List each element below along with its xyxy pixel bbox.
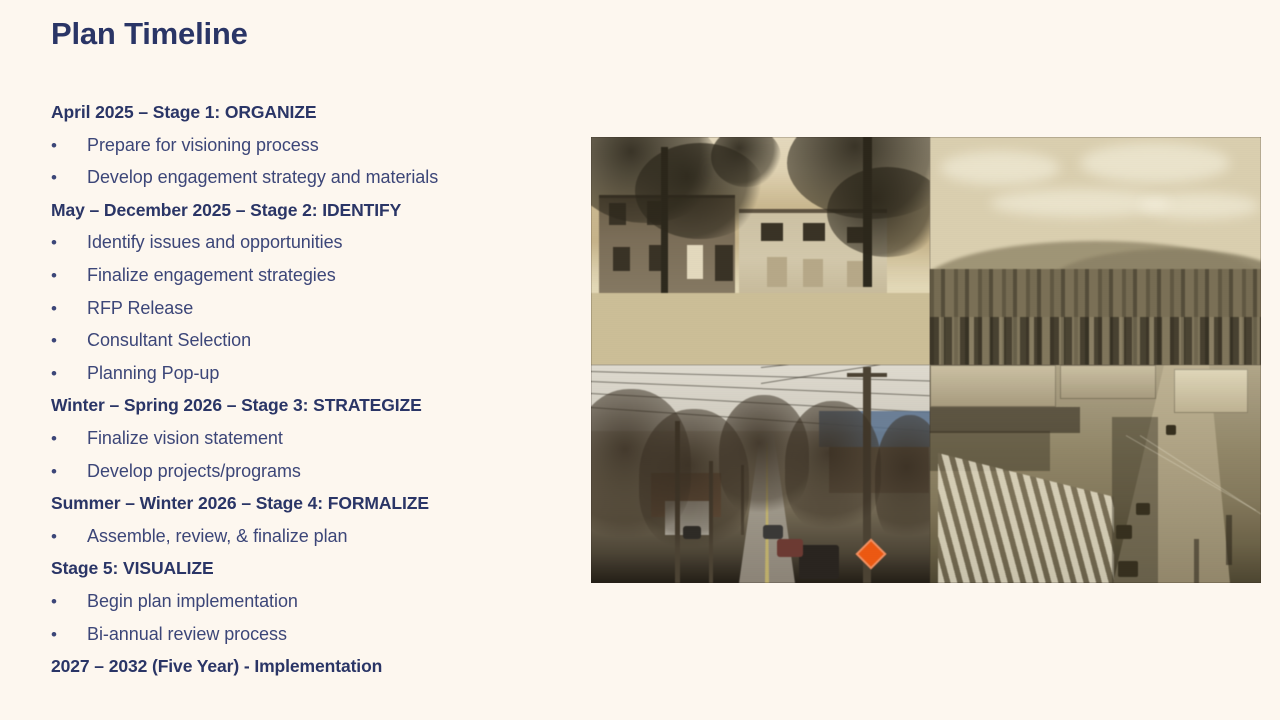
list-item-label: Assemble, review, & finalize plan (87, 520, 347, 553)
window (803, 223, 825, 241)
stage-heading: 2027 – 2032 (Five Year) - Implementation (51, 650, 561, 683)
cloud (940, 151, 1060, 185)
stage-heading: April 2025 – Stage 1: ORGANIZE (51, 96, 561, 129)
townscape (930, 269, 1261, 365)
road-sign-icon (855, 538, 886, 569)
list-item: • Begin plan implementation (51, 585, 561, 618)
list-item: • Develop engagement strategy and materi… (51, 161, 561, 194)
parked-car (799, 545, 839, 579)
collage-photo-historic-houses (591, 137, 930, 365)
bullet-icon: • (51, 130, 87, 163)
list-item-label: Identify issues and opportunities (87, 226, 343, 259)
stage-heading: May – December 2025 – Stage 2: IDENTIFY (51, 194, 561, 227)
list-item: • Prepare for visioning process (51, 129, 561, 162)
bare-tree (875, 415, 930, 545)
parked-car (683, 526, 701, 539)
bullet-icon: • (51, 619, 87, 652)
bullet-icon: • (51, 325, 87, 358)
parked-car (777, 539, 803, 557)
building-block (1060, 365, 1156, 399)
cloud (1140, 193, 1260, 219)
bullet-icon: • (51, 586, 87, 619)
list-item-label: Finalize engagement strategies (87, 259, 336, 292)
stage-heading: Winter – Spring 2026 – Stage 3: STRATEGI… (51, 389, 561, 422)
slide: Plan Timeline April 2025 – Stage 1: ORGA… (0, 0, 1280, 720)
list-item-label: Begin plan implementation (87, 585, 298, 618)
bullet-icon: • (51, 162, 87, 195)
stage-heading: Stage 5: VISUALIZE (51, 552, 561, 585)
window (613, 247, 630, 271)
bullet-icon: • (51, 521, 87, 554)
cloud (1080, 143, 1230, 183)
building-block (1174, 369, 1248, 413)
crossarm (847, 373, 887, 377)
list-item-label: Prepare for visioning process (87, 129, 319, 162)
building-block (930, 365, 1056, 407)
door (767, 257, 787, 287)
bullet-icon: • (51, 456, 87, 489)
vintage-car (1118, 561, 1138, 577)
timeline-list: April 2025 – Stage 1: ORGANIZE • Prepare… (51, 96, 561, 683)
list-item: • Assemble, review, & finalize plan (51, 520, 561, 553)
vintage-car (1116, 525, 1132, 539)
list-item: • Develop projects/programs (51, 455, 561, 488)
list-item-label: Develop engagement strategy and material… (87, 161, 438, 194)
storefront-row (938, 453, 1114, 583)
roofline (930, 407, 1080, 433)
vintage-car (1166, 425, 1176, 435)
list-item: • RFP Release (51, 292, 561, 325)
list-item: • Planning Pop-up (51, 357, 561, 390)
list-item-label: Finalize vision statement (87, 422, 283, 455)
list-item-label: Develop projects/programs (87, 455, 301, 488)
lamp-post (1194, 539, 1199, 583)
list-item-label: RFP Release (87, 292, 193, 325)
window (761, 223, 783, 241)
list-item: • Finalize engagement strategies (51, 259, 561, 292)
stage-heading: Summer – Winter 2026 – Stage 4: FORMALIZ… (51, 487, 561, 520)
list-item: • Consultant Selection (51, 324, 561, 357)
bullet-icon: • (51, 423, 87, 456)
bullet-icon: • (51, 293, 87, 326)
list-item: • Finalize vision statement (51, 422, 561, 455)
bullet-icon: • (51, 260, 87, 293)
parked-car (763, 525, 783, 539)
door (715, 245, 733, 281)
photo-collage (591, 137, 1261, 583)
bullet-icon: • (51, 227, 87, 260)
bullet-icon: • (51, 358, 87, 391)
collage-photo-historic-main-street (930, 365, 1261, 583)
door (687, 245, 703, 279)
collage-photo-present-day-street (591, 365, 930, 583)
list-item-label: Bi-annual review process (87, 618, 287, 651)
lamp-post (1226, 515, 1232, 565)
page-title: Plan Timeline (51, 14, 248, 54)
door (803, 259, 823, 287)
list-item: • Bi-annual review process (51, 618, 561, 651)
list-item: • Identify issues and opportunities (51, 226, 561, 259)
lawn (591, 293, 930, 365)
collage-photo-town-panorama (930, 137, 1261, 365)
list-item-label: Consultant Selection (87, 324, 251, 357)
vintage-car (1136, 503, 1150, 515)
bare-tree (785, 401, 881, 531)
list-item-label: Planning Pop-up (87, 357, 219, 390)
